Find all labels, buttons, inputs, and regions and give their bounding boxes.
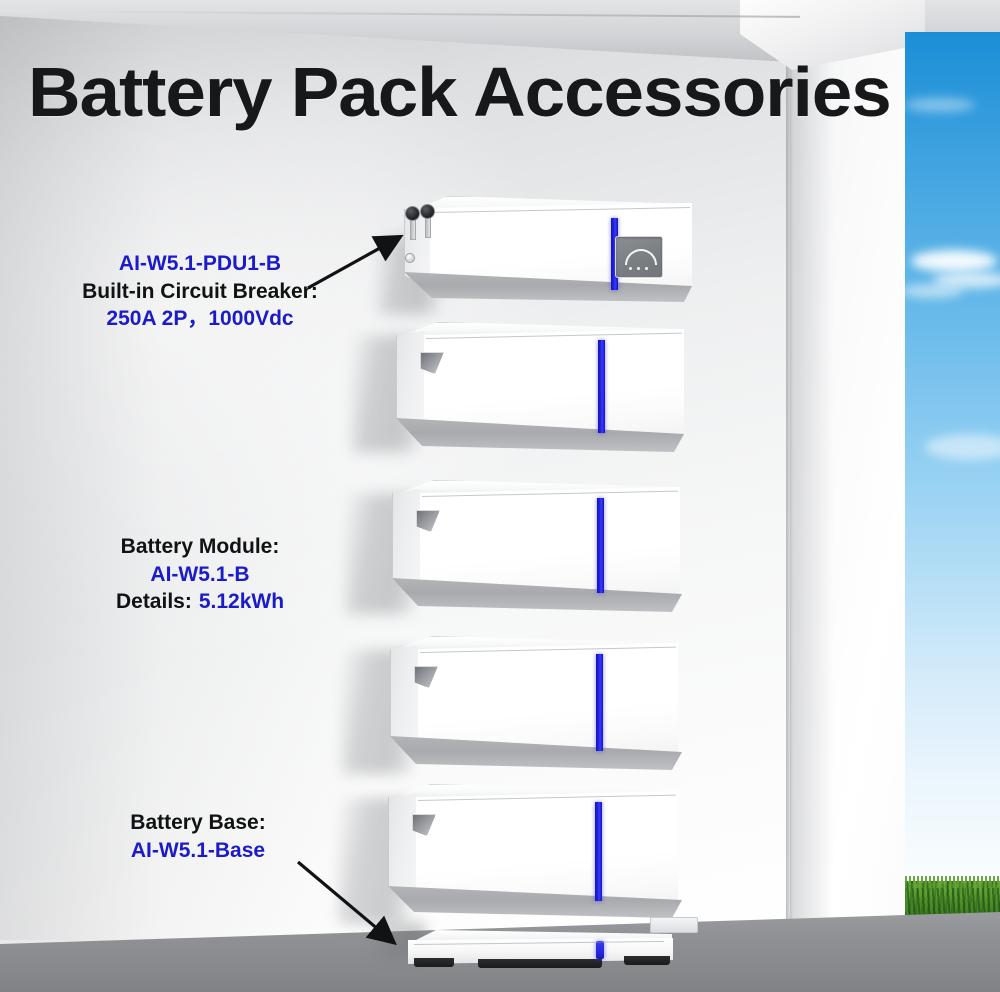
callout-module-details-label: Details: <box>116 590 192 613</box>
callout-pdu-feature: Built-in Circuit Breaker: <box>20 278 380 306</box>
base-rear-riser <box>650 917 698 933</box>
gauge-dot-icon <box>645 267 648 270</box>
callout-base-title: Battery Base: <box>18 809 378 837</box>
callout-pdu-model: AI-W5.1-PDU1-B <box>20 250 380 278</box>
module-led-stripe <box>595 802 602 901</box>
module-led-stripe <box>598 340 605 433</box>
base-foot <box>414 958 454 967</box>
gauge-dot-icon <box>629 267 632 270</box>
gauge-dot-icon <box>637 267 640 270</box>
page-title: Battery Pack Accessories <box>28 52 891 132</box>
base-foot <box>478 959 602 968</box>
callout-module-details: Details:5.12kWh <box>20 588 380 616</box>
base-led-indicator <box>596 941 604 959</box>
callout-pdu: AI-W5.1-PDU1-B Built-in Circuit Breaker:… <box>20 250 380 333</box>
callout-base: Battery Base: AI-W5.1-Base <box>18 809 378 864</box>
module-led-stripe <box>596 654 603 751</box>
callout-module: Battery Module: AI-W5.1-B Details:5.12kW… <box>20 533 380 616</box>
callout-module-details-value: 5.12kWh <box>199 590 284 613</box>
callout-module-model: AI-W5.1-B <box>20 561 380 589</box>
pdu-breaker-terminal[interactable] <box>420 204 435 219</box>
base-foot <box>624 956 670 965</box>
callout-module-title: Battery Module: <box>20 533 380 561</box>
pdu-breaker-terminal[interactable] <box>405 206 420 221</box>
gauge-arc-icon <box>625 249 657 265</box>
callout-base-model: AI-W5.1-Base <box>18 837 378 865</box>
product-scene: Battery Pack Accessories AI-W5.1-PDU1-B … <box>0 0 1000 992</box>
pdu-status-display[interactable] <box>615 236 663 278</box>
pdu-latch-icon[interactable] <box>405 253 415 263</box>
module-led-stripe <box>597 498 604 593</box>
callout-pdu-spec: 250A 2P，1000Vdc <box>20 305 380 333</box>
